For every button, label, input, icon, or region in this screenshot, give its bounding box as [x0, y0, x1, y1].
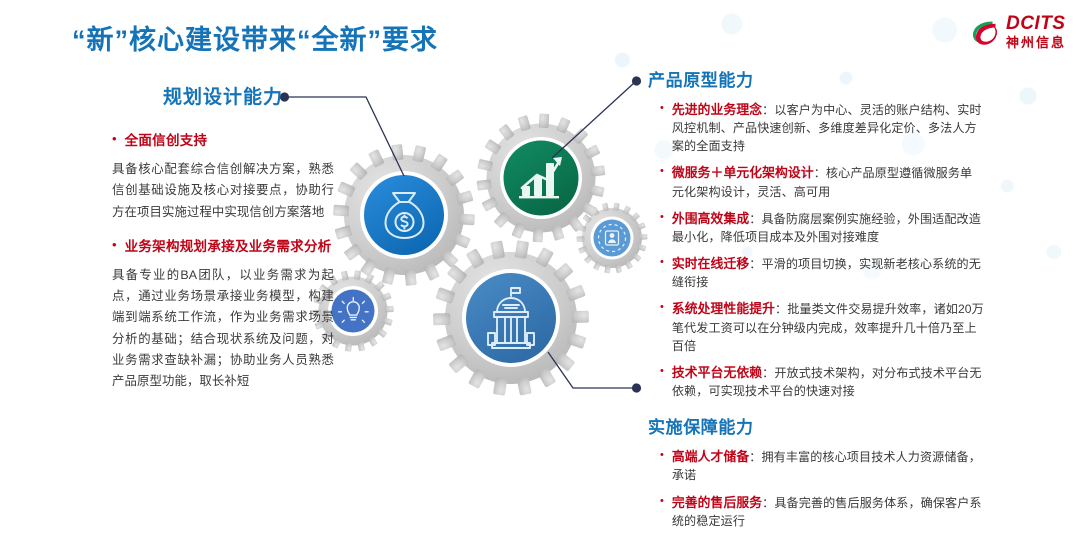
connector-implementation: [548, 352, 641, 393]
list-item: • 技术平台无依赖：开放式技术架构，对分布式技术平台无依赖，可实现技术平台的快速…: [648, 363, 984, 400]
swirl-logo-icon: [970, 17, 1000, 47]
right-item-text: 技术平台无依赖：开放式技术架构，对分布式技术平台无依赖，可实现技术平台的快速对接: [672, 363, 984, 400]
left-block-1-body: 具备核心配套综合信创解决方案，熟悉信创基础设施及核心对接要点，协助行方在项目实施…: [112, 159, 334, 223]
left-block-2-header: • 业务架构规划承接及业务需求分析: [112, 237, 334, 258]
left-block-1-header: • 全面信创支持: [112, 131, 334, 152]
right-column: 产品原型能力 • 先进的业务理念：以客户为中心、灵活的账户结构、实时风控机制、产…: [648, 66, 984, 538]
right-item-text: 高端人才储备：拥有丰富的核心项目技术人力资源储备，承诺: [672, 447, 984, 484]
list-item: • 实时在线迁移：平滑的项目切换，实现新老核心系统的无缝衔接: [648, 254, 984, 291]
left-block-2-title: 业务架构规划承接及业务需求分析: [125, 237, 332, 258]
logo-text-en: DCITS: [1006, 14, 1066, 33]
right-item-lead: 先进的业务理念: [672, 102, 762, 117]
gear-growth: [474, 110, 609, 245]
slide-root: “新”核心建设带来“全新”要求 DCITS 神州信息: [0, 0, 1080, 540]
right-item-lead: 外围高效集成: [672, 211, 749, 226]
connector-product: [552, 76, 641, 158]
bullet-dot-icon: •: [660, 209, 664, 225]
right-item-lead: 系统处理性能提升: [672, 301, 775, 316]
person-badge-icon: [599, 225, 626, 252]
right-item-lead: 完善的售后服务: [672, 495, 762, 510]
list-item: • 外围高效集成：具备防腐层案例实施经验，外围适配改造最小化，降低项目成本及外围…: [648, 209, 984, 246]
bullet-dot-icon: •: [660, 363, 664, 379]
right-group-implementation: 实施保障能力 • 高端人才储备：拥有丰富的核心项目技术人力资源储备，承诺 • 完…: [648, 413, 984, 530]
right-item-text: 系统处理性能提升：批量类文件交易提升效率，诸如20万笔代发工资可以在分钟级内完成…: [672, 299, 984, 354]
brand-logo: DCITS 神州信息: [970, 14, 1066, 49]
left-block-1-title: 全面信创支持: [125, 131, 208, 152]
bullet-dot-icon: •: [112, 131, 117, 147]
right-item-text: 实时在线迁移：平滑的项目切换，实现新老核心系统的无缝衔接: [672, 254, 984, 291]
right-item-lead: 微服务＋单元化架构设计: [672, 165, 814, 180]
bullet-dot-icon: •: [112, 237, 117, 253]
bullet-dot-icon: •: [660, 254, 664, 270]
left-block-2: • 业务架构规划承接及业务需求分析 具备专业的BA团队，以业务需求为起点，通过业…: [112, 237, 334, 393]
bullet-dot-icon: •: [660, 493, 664, 509]
list-item: • 高端人才储备：拥有丰富的核心项目技术人力资源储备，承诺: [648, 447, 984, 484]
right-item-text: 先进的业务理念：以客户为中心、灵活的账户结构、实时风控机制、产品快速创新、多维度…: [672, 100, 984, 155]
list-item: • 先进的业务理念：以客户为中心、灵活的账户结构、实时风控机制、产品快速创新、多…: [648, 100, 984, 155]
right-item-lead: 技术平台无依赖: [672, 365, 762, 380]
bullet-dot-icon: •: [660, 299, 664, 315]
right-item-lead: 高端人才储备: [672, 449, 749, 464]
right-heading-product: 产品原型能力: [648, 66, 984, 91]
right-heading-implementation: 实施保障能力: [648, 413, 984, 438]
right-item-text: 微服务＋单元化架构设计：核心产品原型遵循微服务单元化架构设计，灵活、高可用: [672, 163, 984, 200]
bullet-dot-icon: •: [660, 100, 664, 116]
list-item: • 完善的售后服务：具备完善的售后服务体系，确保客户系统的稳定运行: [648, 493, 984, 530]
bank-building-icon: [488, 288, 534, 348]
left-heading: 规划设计能力: [112, 82, 334, 109]
gear-person: [570, 196, 654, 280]
list-item: • 系统处理性能提升：批量类文件交易提升效率，诸如20万笔代发工资可以在分钟级内…: [648, 299, 984, 354]
bullet-dot-icon: •: [660, 163, 664, 179]
right-item-text: 外围高效集成：具备防腐层案例实施经验，外围适配改造最小化，降低项目成本及外围对接…: [672, 209, 984, 246]
left-block-1: • 全面信创支持 具备核心配套综合信创解决方案，熟悉信创基础设施及核心对接要点，…: [112, 131, 334, 223]
logo-text-cn: 神州信息: [1006, 36, 1066, 49]
money-bag-icon: [386, 193, 424, 238]
bullet-dot-icon: •: [660, 447, 664, 463]
left-block-2-body: 具备专业的BA团队，以业务需求为起点，通过业务场景承接业务模型，构建端到端系统工…: [112, 265, 334, 393]
right-item-text: 完善的售后服务：具备完善的售后服务体系，确保客户系统的稳定运行: [672, 493, 984, 530]
bar-chart-up-icon: [519, 157, 562, 198]
gear-bank: [422, 229, 600, 407]
list-item: • 微服务＋单元化架构设计：核心产品原型遵循微服务单元化架构设计，灵活、高可用: [648, 163, 984, 200]
gear-money-bag: [326, 137, 481, 293]
right-group-product: 产品原型能力 • 先进的业务理念：以客户为中心、灵活的账户结构、实时风控机制、产…: [648, 66, 984, 400]
right-item-lead: 实时在线迁移: [672, 256, 749, 271]
left-column: 规划设计能力 • 全面信创支持 具备核心配套综合信创解决方案，熟悉信创基础设施及…: [112, 82, 334, 407]
page-title: “新”核心建设带来“全新”要求: [72, 18, 438, 57]
